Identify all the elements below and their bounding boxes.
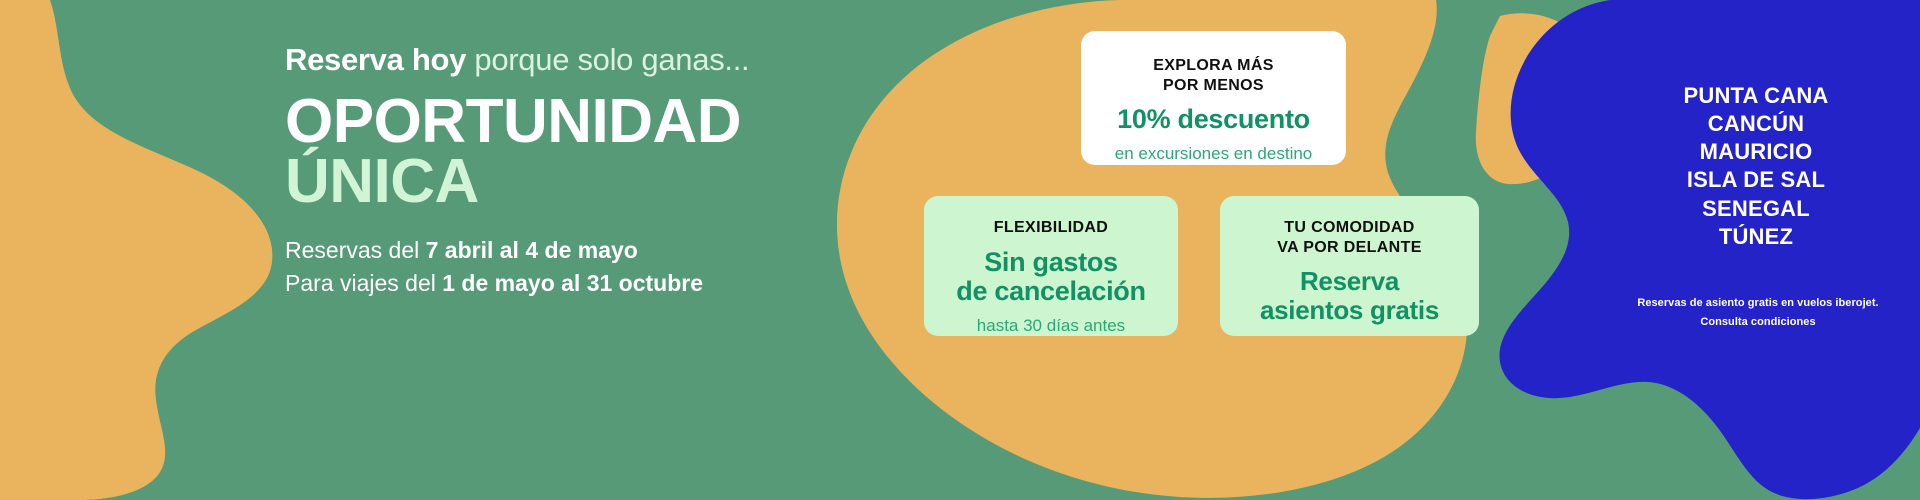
card-discount-sub: en excursiones en destino xyxy=(1115,144,1313,164)
card-flexibility[interactable]: FLEXIBILIDAD Sin gastosde cancelación ha… xyxy=(924,196,1178,336)
date-travel-prefix: Para viajes del xyxy=(285,270,442,296)
date-booking-range: 7 abril al 4 de mayo xyxy=(426,237,638,263)
card-comfort-main: Reservaasientos gratis xyxy=(1260,267,1439,324)
card-comfort-kicker: TU COMODIDADVA POR DELANTE xyxy=(1277,218,1421,257)
promo-banner: Reserva hoy porque solo ganas... OPORTUN… xyxy=(0,0,1920,500)
left-copy-block: Reserva hoy porque solo ganas... OPORTUN… xyxy=(285,42,905,299)
headline-line-1: OPORTUNIDAD xyxy=(285,87,741,156)
card-flexibility-main: Sin gastosde cancelación xyxy=(956,248,1145,307)
card-flexibility-main-line2: de cancelación xyxy=(956,276,1145,306)
destinations-list: PUNTA CANA CANCÚN MAURICIO ISLA DE SAL S… xyxy=(1636,82,1876,251)
destination-item: SENEGAL xyxy=(1636,195,1876,223)
card-comfort[interactable]: TU COMODIDADVA POR DELANTE Reservaasient… xyxy=(1220,196,1479,336)
page-title: OPORTUNIDADÚNICA xyxy=(285,92,905,212)
card-discount-kicker-line1: EXPLORA MÁS xyxy=(1153,57,1274,74)
destination-item: TÚNEZ xyxy=(1636,223,1876,251)
card-flexibility-sub: hasta 30 días antes xyxy=(977,316,1125,336)
headline-line-2: ÚNICA xyxy=(285,152,905,212)
card-comfort-kicker-line1: TU COMODIDAD xyxy=(1284,219,1414,236)
eyebrow-light: porque solo ganas... xyxy=(466,42,749,77)
date-line-travel: Para viajes del 1 de mayo al 31 octubre xyxy=(285,267,905,300)
destination-item: MAURICIO xyxy=(1636,138,1876,166)
card-discount-kicker: EXPLORA MÁSPOR MENOS xyxy=(1153,56,1274,95)
card-discount-main: 10% descuento xyxy=(1117,105,1310,135)
dates-block: Reservas del 7 abril al 4 de mayo Para v… xyxy=(285,234,905,299)
card-comfort-main-line2: asientos gratis xyxy=(1260,295,1439,325)
date-booking-prefix: Reservas del xyxy=(285,237,426,263)
destination-item: ISLA DE SAL xyxy=(1636,166,1876,194)
fineprint-line-2: Consulta condiciones xyxy=(1608,313,1908,332)
eyebrow: Reserva hoy porque solo ganas... xyxy=(285,42,905,78)
card-discount-kicker-line2: POR MENOS xyxy=(1163,77,1264,94)
eyebrow-strong: Reserva hoy xyxy=(285,42,466,77)
card-comfort-kicker-line2: VA POR DELANTE xyxy=(1277,239,1421,256)
destination-item: CANCÚN xyxy=(1636,110,1876,138)
fineprint-line-1: Reservas de asiento gratis en vuelos ibe… xyxy=(1608,294,1908,313)
date-travel-range: 1 de mayo al 31 octubre xyxy=(442,270,703,296)
date-line-booking: Reservas del 7 abril al 4 de mayo xyxy=(285,234,905,267)
fineprint-block: Reservas de asiento gratis en vuelos ibe… xyxy=(1608,294,1908,333)
destination-item: PUNTA CANA xyxy=(1636,82,1876,110)
card-flexibility-kicker: FLEXIBILIDAD xyxy=(994,218,1108,238)
card-flexibility-main-line1: Sin gastos xyxy=(984,247,1118,277)
card-comfort-main-line1: Reserva xyxy=(1300,266,1399,296)
card-discount[interactable]: EXPLORA MÁSPOR MENOS 10% descuento en ex… xyxy=(1081,31,1346,165)
